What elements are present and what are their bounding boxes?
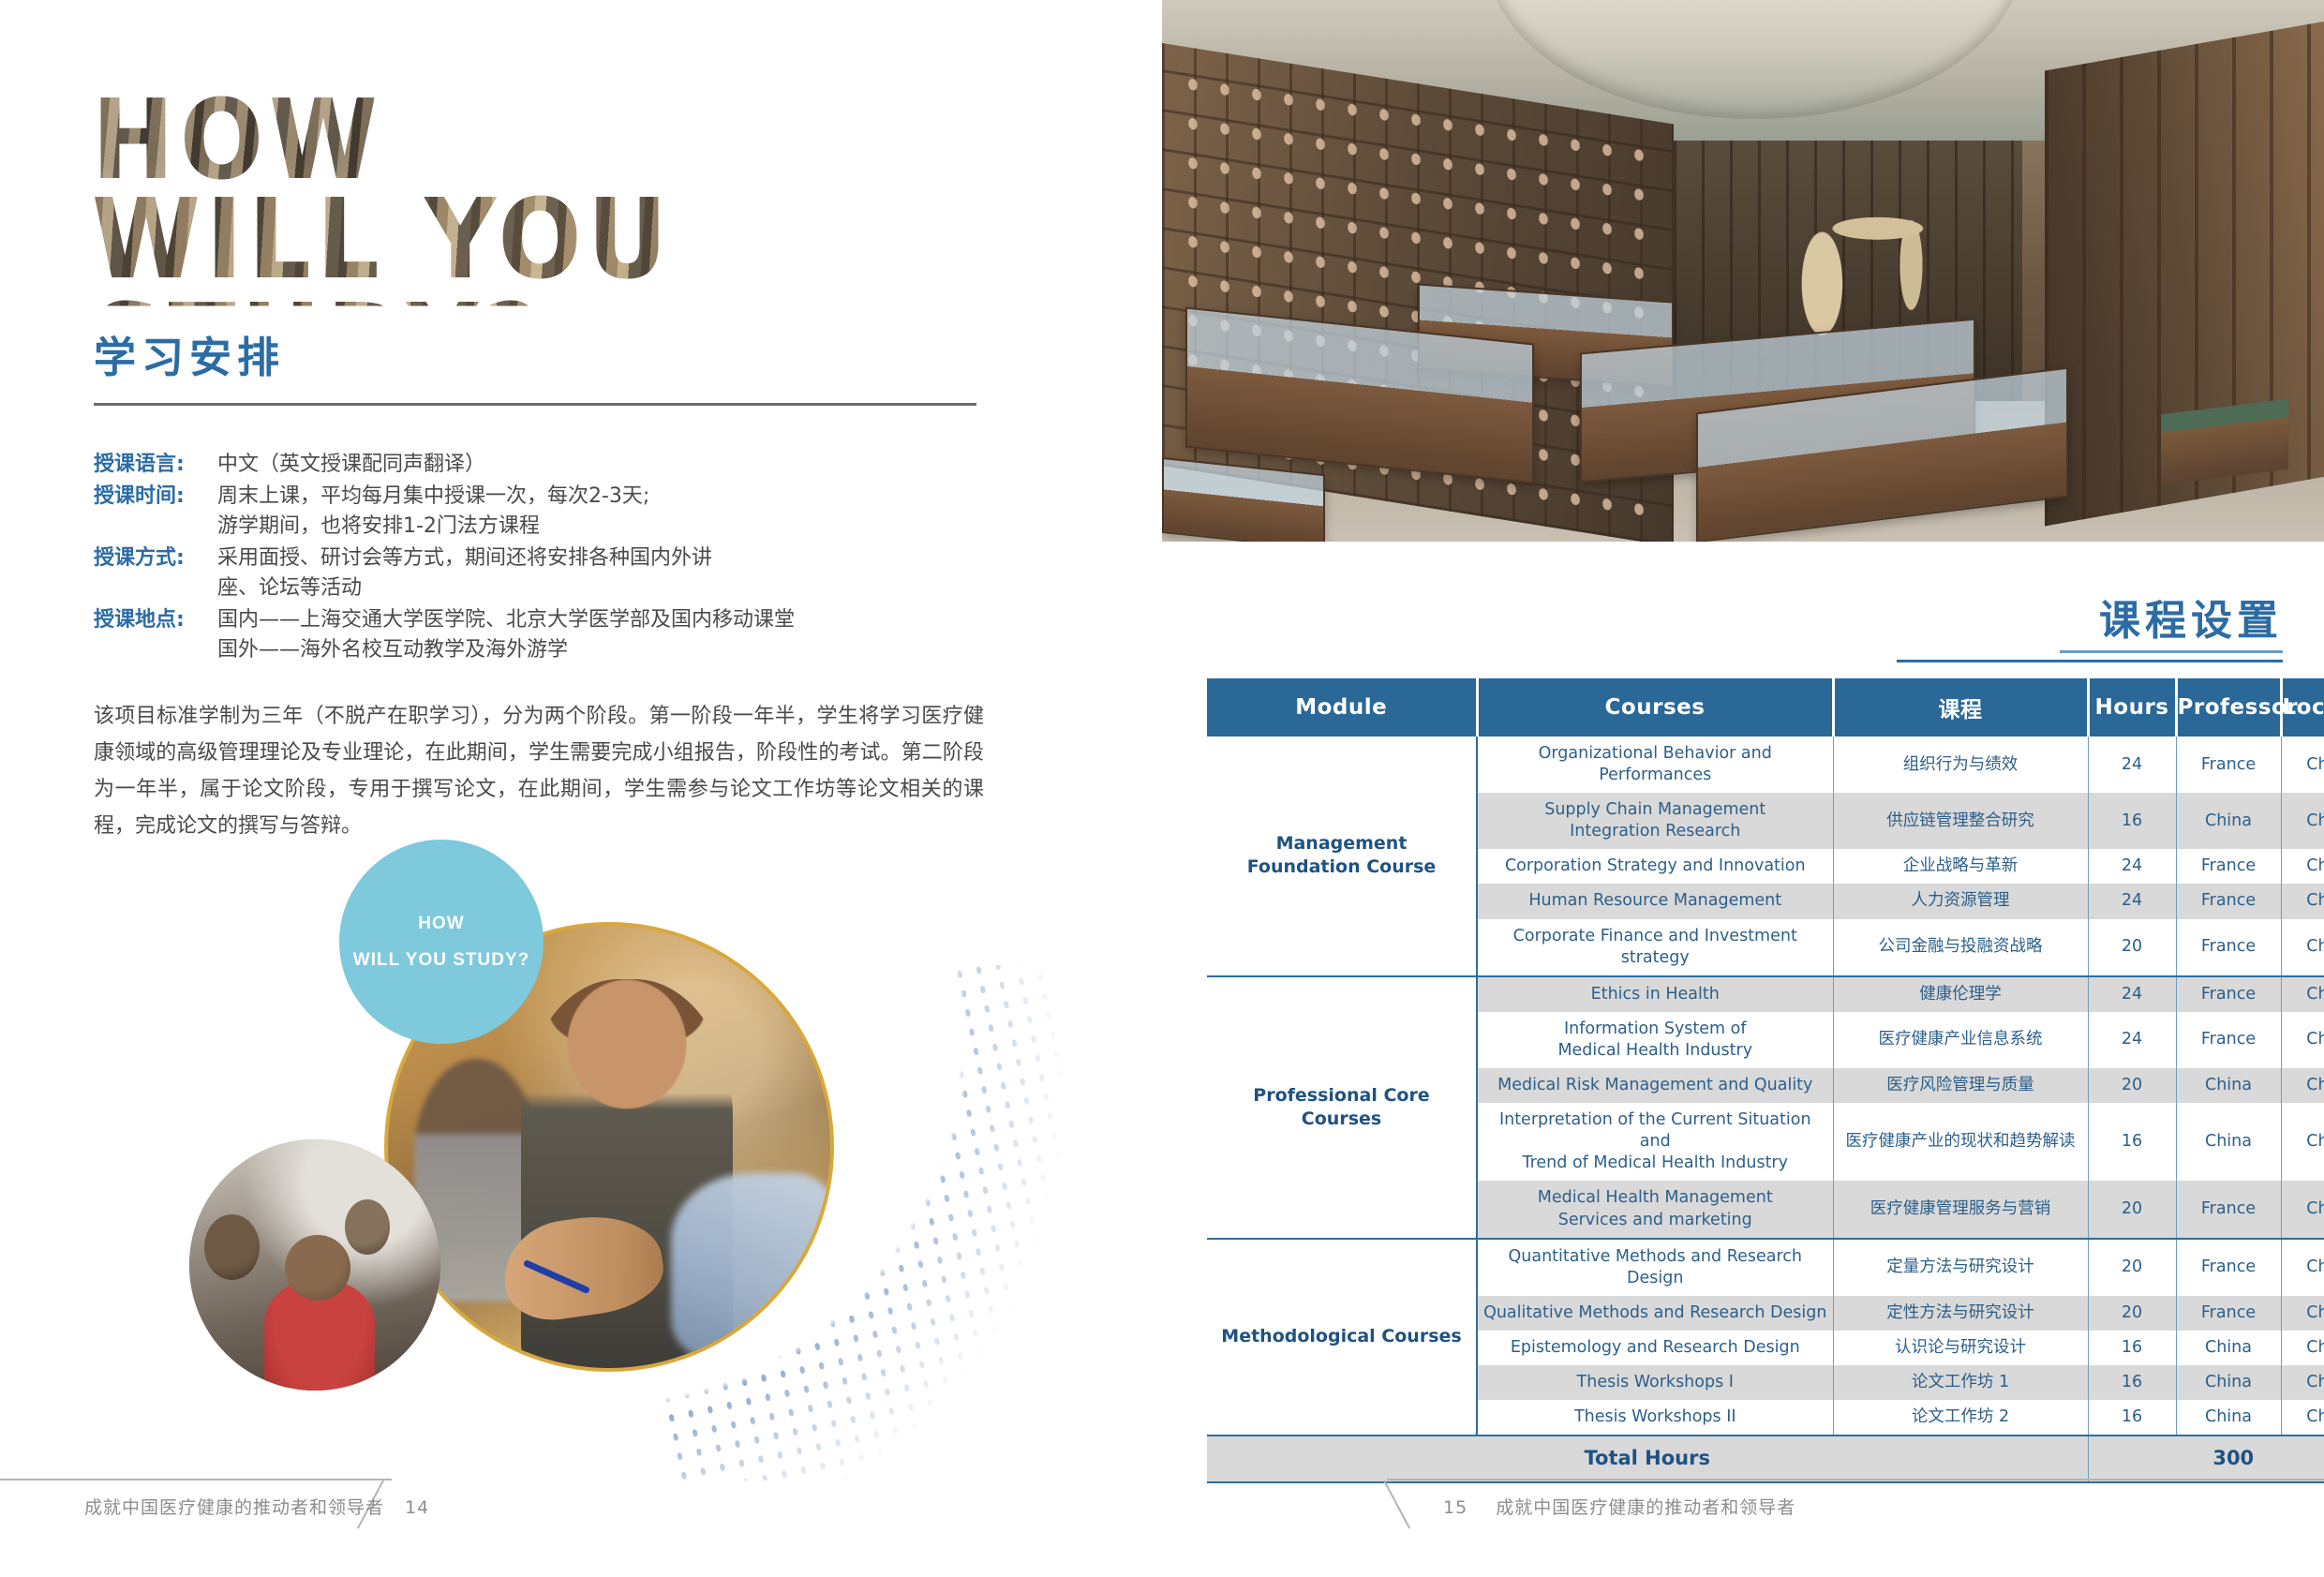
footer-rule (1387, 1479, 2324, 1480)
info-value-line1: 中文（英文授课配同声翻译） (217, 453, 485, 476)
course-name-en: Thesis Workshops I (1477, 1365, 1833, 1400)
page-number: 14 (405, 1497, 429, 1518)
course-location: China (2281, 919, 2324, 976)
course-name-cn: 健康伦理学 (1833, 976, 2088, 1012)
info-value-line1: 采用面授、研讨会等方式，期间还将安排各种国内外讲 (217, 546, 712, 570)
course-professor: China (2176, 1331, 2281, 1365)
course-professor: France (2176, 1239, 2281, 1296)
course-name-cn: 医疗健康产业信息系统 (1833, 1012, 2088, 1068)
course-location: China (2281, 1012, 2324, 1068)
course-name-en: Corporation Strategy and Innovation (1477, 849, 1833, 884)
col-header-professor: Professor (2176, 678, 2281, 736)
course-name-en: Supply Chain ManagementIntegration Resea… (1477, 793, 1833, 849)
info-value: 周末上课，平均每月集中授课一次，每次2-3天; 游学期间，也将安排1-2门法方课… (217, 482, 649, 542)
info-value-line1: 周末上课，平均每月集中授课一次，每次2-3天; (217, 484, 649, 508)
course-name-cn: 组织行为与绩效 (1833, 736, 2088, 793)
museum-hall-photo (1162, 0, 2324, 542)
curriculum-table: Module Courses 课程 Hours Professor Locati… (1207, 678, 2324, 1483)
course-name-cn: 企业战略与革新 (1833, 849, 2088, 884)
right-footer: 15成就中国医疗健康的推动者和领导者 (1162, 1479, 2324, 1535)
course-hours: 24 (2088, 849, 2176, 884)
course-hours: 24 (2088, 1012, 2176, 1068)
study-info-list: 授课语言: 中文（英文授课配同声翻译） 授课时间: 周末上课，平均每月集中授课一… (94, 450, 1031, 667)
footer-tagline: 成就中国医疗健康的推动者和领导者 (84, 1497, 384, 1518)
course-professor: China (2176, 1400, 2281, 1436)
badge-line-2: WILL YOU STUDY? (353, 950, 529, 971)
info-value: 中文（英文授课配同声翻译） (217, 450, 485, 480)
course-hours: 24 (2088, 736, 2176, 793)
left-footer: 成就中国医疗健康的推动者和领导者14 (0, 1479, 1162, 1535)
course-hours: 16 (2088, 793, 2176, 849)
course-location: China (2281, 849, 2324, 884)
course-name-cn: 医疗健康管理服务与营销 (1833, 1181, 2088, 1238)
photo-person-right (671, 1173, 830, 1359)
course-location: China (2281, 1296, 2324, 1331)
info-row: 授课地点: 国内——上海交通大学医学院、北京大学医学部及国内移动课堂 国外——海… (94, 605, 1031, 665)
info-label: 授课方式: (94, 543, 217, 573)
course-name-cn: 医疗健康产业的现状和趋势解读 (1833, 1103, 2088, 1181)
course-name-cn: 定性方法与研究设计 (1833, 1296, 2088, 1331)
course-location: China (2281, 736, 2324, 793)
course-name-cn: 论文工作坊 2 (1833, 1400, 2088, 1436)
course-professor: France (2176, 1181, 2281, 1238)
left-page: HOW WILL YOU STUDY? 学习安排 授课语言: 中文（英文授课配同… (0, 0, 1162, 1577)
info-row: 授课时间: 周末上课，平均每月集中授课一次，每次2-3天; 游学期间，也将安排1… (94, 482, 1031, 542)
right-page: 课程设置 Module Courses 课程 Hours Professor L… (1162, 0, 2324, 1577)
course-name-en: Epistemology and Research Design (1477, 1331, 1833, 1365)
curriculum-divider-thick (1897, 660, 2283, 662)
course-professor: France (2176, 919, 2281, 976)
table-footer: Total Hours 300 (1207, 1436, 2324, 1482)
total-hours-value: 300 (2088, 1436, 2324, 1482)
course-professor: France (2176, 849, 2281, 884)
course-hours: 20 (2088, 1296, 2176, 1331)
course-name-en: Medical Risk Management and Quality (1477, 1068, 1833, 1103)
course-name-en: Corporate Finance and Investment strateg… (1477, 919, 1833, 976)
info-row: 授课方式: 采用面授、研讨会等方式，期间还将安排各种国内外讲 座、论坛等活动 (94, 543, 1031, 603)
course-name-en: Human Resource Management (1477, 884, 1833, 918)
course-professor: France (2176, 1012, 2281, 1068)
course-name-en: Medical Health ManagementServices and ma… (1477, 1181, 1833, 1238)
table-header: Module Courses 课程 Hours Professor Locati… (1207, 678, 2324, 736)
table-header-row: Module Courses 课程 Hours Professor Locati… (1207, 678, 2324, 736)
course-name-en: Thesis Workshops II (1477, 1400, 1833, 1436)
footer-rule (0, 1479, 392, 1480)
page-number: 15 (1443, 1497, 1467, 1518)
info-value: 国内——上海交通大学医学院、北京大学医学部及国内移动课堂 国外——海外名校互动教… (217, 605, 795, 665)
table-row: ManagementFoundation CourseOrganizationa… (1207, 736, 2324, 793)
course-hours: 20 (2088, 1068, 2176, 1103)
module-name-cell: ManagementFoundation Course (1207, 736, 1477, 976)
course-name-cn: 定量方法与研究设计 (1833, 1239, 2088, 1296)
course-name-en: Information System ofMedical Health Indu… (1477, 1012, 1833, 1068)
module-name-cell: Professional Core Courses (1207, 976, 1477, 1239)
table-body: ManagementFoundation CourseOrganizationa… (1207, 736, 2324, 1436)
footer-slash-icon (1383, 1480, 1410, 1529)
course-location: China (2281, 1103, 2324, 1181)
col-header-courses: Courses (1477, 678, 1833, 736)
course-name-en: Qualitative Methods and Research Design (1477, 1296, 1833, 1331)
course-hours: 16 (2088, 1365, 2176, 1400)
course-hours: 20 (2088, 1239, 2176, 1296)
course-name-cn: 公司金融与投融资战略 (1833, 919, 2088, 976)
info-value-line1: 国内——上海交通大学医学院、北京大学医学部及国内移动课堂 (217, 608, 795, 632)
col-header-hours: Hours (2088, 678, 2176, 736)
table-row: Methodological CoursesQuantitative Metho… (1207, 1239, 2324, 1296)
course-professor: France (2176, 736, 2281, 793)
col-header-courses-cn: 课程 (1833, 678, 2088, 736)
info-label: 授课时间: (94, 482, 217, 512)
module-name-cell: Methodological Courses (1207, 1239, 1477, 1436)
course-location: China (2281, 1331, 2324, 1365)
course-location: China (2281, 1181, 2324, 1238)
curriculum-divider-thin (2060, 650, 2283, 653)
course-professor: China (2176, 793, 2281, 849)
course-hours: 20 (2088, 1181, 2176, 1238)
footer-content: 成就中国医疗健康的推动者和领导者14 (84, 1494, 429, 1519)
course-name-cn: 人力资源管理 (1833, 884, 2088, 918)
table-row: Professional Core CoursesEthics in Healt… (1207, 976, 2324, 1012)
course-location: China (2281, 1239, 2324, 1296)
course-professor: China (2176, 1365, 2281, 1400)
course-location: China (2281, 976, 2324, 1012)
footer-content: 15成就中国医疗健康的推动者和领导者 (1443, 1494, 1795, 1519)
course-name-cn: 医疗风险管理与质量 (1833, 1068, 2088, 1103)
course-hours: 16 (2088, 1103, 2176, 1181)
course-hours: 20 (2088, 919, 2176, 976)
footer-tagline: 成就中国医疗健康的推动者和领导者 (1496, 1497, 1795, 1518)
lecture-audience-photo (189, 1139, 440, 1391)
body-paragraph: 该项目标准学制为三年（不脱产在职学习），分为两个阶段。第一阶段一年半，学生将学习… (94, 698, 984, 844)
col-header-module: Module (1207, 678, 1477, 736)
photo-collage: HOW WILL YOU STUDY? (197, 825, 1153, 1480)
photo-audience-head-left (204, 1214, 260, 1280)
badge-line-1: HOW (418, 914, 464, 934)
course-hours: 16 (2088, 1331, 2176, 1365)
info-value-line2: 座、论坛等活动 (217, 573, 712, 603)
info-value: 采用面授、研讨会等方式，期间还将安排各种国内外讲 座、论坛等活动 (217, 543, 712, 603)
course-location: China (2281, 1365, 2324, 1400)
course-hours: 16 (2088, 1400, 2176, 1436)
course-hours: 24 (2088, 884, 2176, 918)
course-location: China (2281, 884, 2324, 918)
brochure-spread: HOW WILL YOU STUDY? 学习安排 授课语言: 中文（英文授课配同… (0, 0, 2324, 1577)
course-name-en: Interpretation of the Current Situation … (1477, 1103, 1833, 1181)
info-row: 授课语言: 中文（英文授课配同声翻译） (94, 450, 1031, 480)
info-value-line2: 游学期间，也将安排1-2门法方课程 (217, 512, 649, 542)
course-name-cn: 论文工作坊 1 (1833, 1365, 2088, 1400)
course-location: China (2281, 1400, 2324, 1436)
course-name-cn: 认识论与研究设计 (1833, 1331, 2088, 1365)
course-name-en: Ethics in Health (1477, 976, 1833, 1012)
page-title: 学习安排 (94, 323, 285, 384)
info-label: 授课语言: (94, 450, 217, 480)
course-professor: France (2176, 884, 2281, 918)
title-divider (94, 403, 976, 406)
curriculum-title: 课程设置 (2099, 587, 2283, 647)
course-hours: 24 (2088, 976, 2176, 1012)
course-location: China (2281, 1068, 2324, 1103)
course-name-en: Quantitative Methods and Research Design (1477, 1239, 1833, 1296)
course-name-en: Organizational Behavior and Performances (1477, 736, 1833, 793)
course-professor: China (2176, 1068, 2281, 1103)
course-professor: France (2176, 976, 2281, 1012)
course-location: China (2281, 793, 2324, 849)
col-header-location: Location (2281, 678, 2324, 736)
total-hours-row: Total Hours 300 (1207, 1436, 2324, 1482)
total-hours-label: Total Hours (1207, 1436, 2088, 1482)
course-professor: France (2176, 1296, 2281, 1331)
photo-audience-head-front (285, 1235, 350, 1301)
course-professor: China (2176, 1103, 2281, 1181)
course-name-cn: 供应链管理整合研究 (1833, 793, 2088, 849)
how-will-you-study-badge: HOW WILL YOU STUDY? (339, 840, 544, 1044)
info-value-line2: 国外——海外名校互动教学及海外游学 (217, 635, 795, 665)
info-label: 授课地点: (94, 605, 217, 635)
